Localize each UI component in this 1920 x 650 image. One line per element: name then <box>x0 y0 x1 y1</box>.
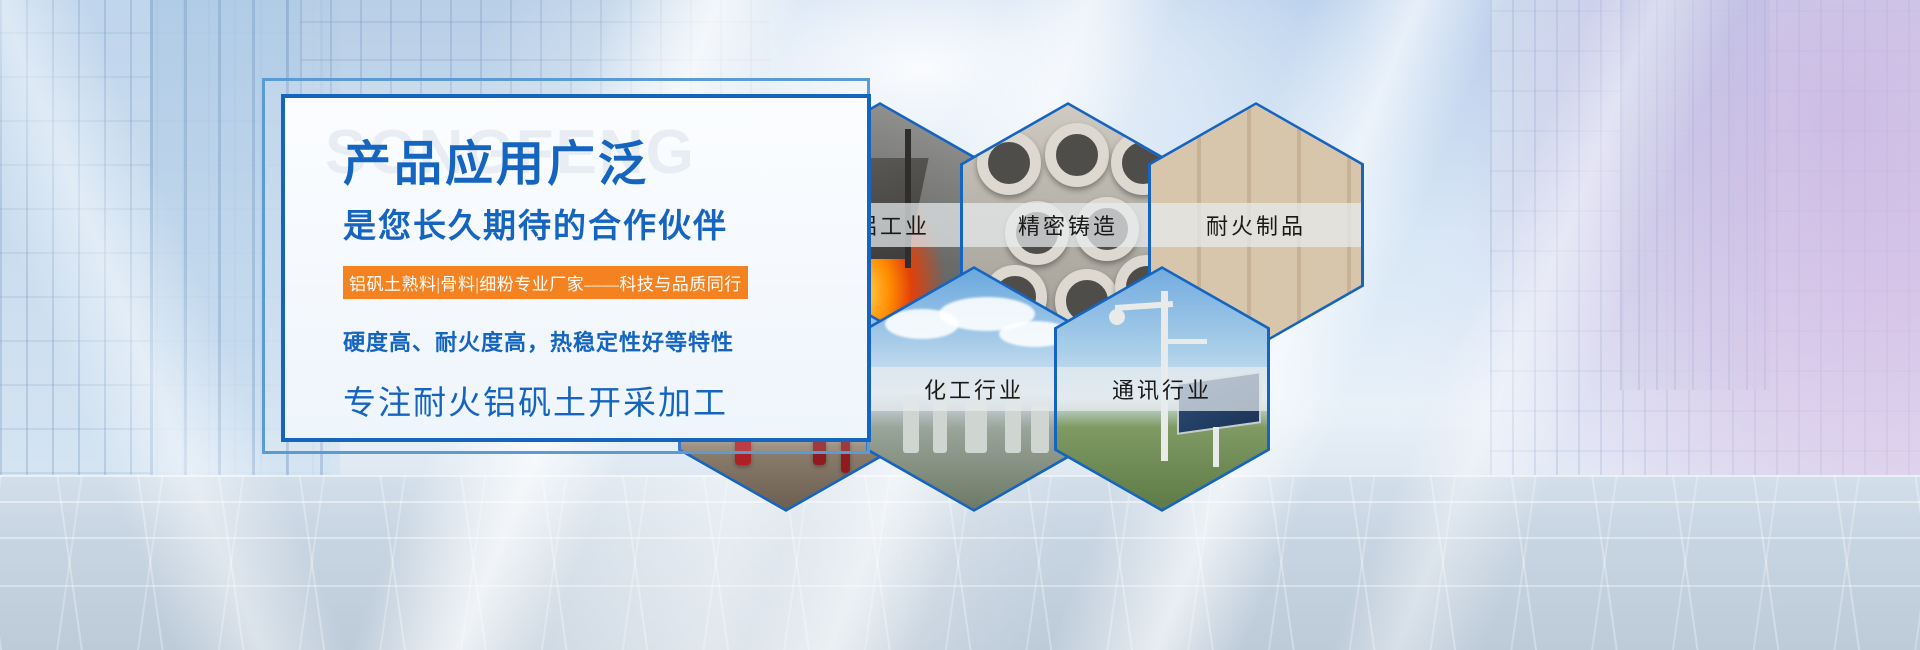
page-title: 产品应用广泛 <box>343 140 649 190</box>
hexagon-label: 化工行业 <box>869 367 1079 411</box>
page-subtitle: 是您长久期待的合作伙伴 <box>343 199 728 247</box>
hexagon-label: 精密铸造 <box>963 203 1173 247</box>
hexagon-label: 耐火制品 <box>1151 203 1361 247</box>
feature-text: 硬度高、耐火度高，热稳定性好等特性 <box>343 325 734 357</box>
promo-banner: 炼铝工业 精密铸造 <box>0 0 1920 650</box>
hexagon-label: 通讯行业 <box>1057 367 1267 411</box>
specialty-text: 专注耐火铝矾土开采加工 <box>343 376 728 424</box>
content-panel: SONGFENG 产品应用广泛 是您长久期待的合作伙伴 铝矾土熟料|骨料|细粉专… <box>281 94 871 442</box>
tagline-text: 铝矾土熟料|骨料|细粉专业厂家——科技与品质同行 <box>349 270 742 295</box>
tagline-badge: 铝矾土熟料|骨料|细粉专业厂家——科技与品质同行 <box>343 266 748 299</box>
